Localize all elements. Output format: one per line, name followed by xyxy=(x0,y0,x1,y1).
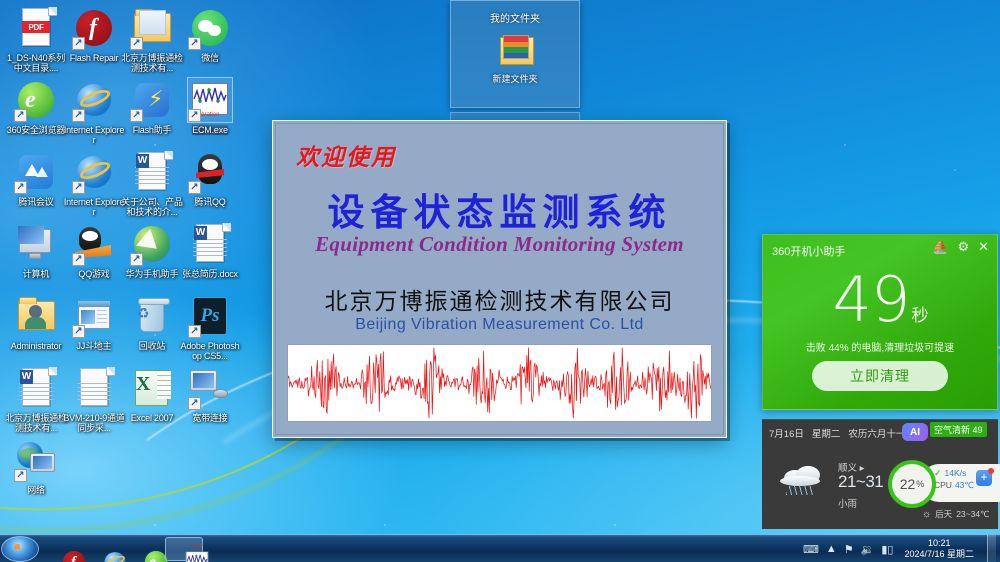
waveform-svg xyxy=(288,345,711,421)
memory-usage-value: 22 xyxy=(900,476,916,492)
percent-sign: % xyxy=(916,479,924,489)
network-icon xyxy=(15,439,57,481)
icon-art-wrapper: W xyxy=(187,221,233,267)
huawei-icon xyxy=(131,223,173,265)
desktop-icon-pdf[interactable]: PDF1_DS-N40系列中文目录.... xyxy=(5,5,67,73)
weekday-text: 星期二 xyxy=(812,426,841,440)
taskbar-button-group: febration xyxy=(39,537,203,561)
window-icon xyxy=(73,295,115,337)
icon-art-wrapper xyxy=(13,293,59,339)
desktop-icon-label: Internet Explorer xyxy=(63,197,125,217)
company-name-cn: 北京万博振通检测技术有限公司 xyxy=(276,282,723,316)
desktop-icon-ie[interactable]: Internet Explorer xyxy=(63,77,125,145)
boot-time-value: 49秒 xyxy=(763,267,997,349)
shortcut-arrow-icon xyxy=(130,253,143,266)
shortcut-arrow-icon xyxy=(14,181,27,194)
sun-icon: ☼ xyxy=(922,509,931,520)
doc-icon xyxy=(73,367,115,409)
desktop-icon-word[interactable]: W北京万博振通检测技术有... xyxy=(5,365,67,433)
browser360-icon: e xyxy=(15,79,57,121)
desktop-icon-label: 计算机 xyxy=(23,269,49,279)
gear-icon[interactable]: ⚙ xyxy=(957,240,969,253)
icon-art-wrapper xyxy=(13,221,59,267)
desktop-icon-label: 回收站 xyxy=(139,341,165,351)
desktop-icon-qqgame[interactable]: QQ游戏 xyxy=(63,221,125,279)
ie-icon xyxy=(73,151,115,193)
cpu-temp-value: 43℃ xyxy=(955,479,974,491)
close-icon[interactable]: ✕ xyxy=(978,240,989,253)
desktop-icon-label: 北京万博振通检测技术有... xyxy=(121,53,183,73)
forecast-day: 后天 xyxy=(935,508,952,520)
shortcut-arrow-icon xyxy=(72,181,85,194)
folder-overlay-item[interactable]: 新建文件夹 xyxy=(451,33,579,85)
shortcut-arrow-icon xyxy=(72,253,85,266)
icon-art-wrapper xyxy=(13,437,59,483)
recyclebin-icon: ♻ xyxy=(131,295,173,337)
desktop-icon-browser360[interactable]: e360安全浏览器 xyxy=(5,77,67,135)
flash-taskbar-button[interactable]: f xyxy=(42,537,80,561)
splash-window[interactable]: 欢迎使用 设备状态监测系统 Equipment Condition Monito… xyxy=(272,120,727,438)
air-quality-label: 空气清新 49 xyxy=(934,423,983,436)
desktop-icon-userfolder[interactable]: Administrator xyxy=(5,293,67,351)
icon-art-wrapper: X xyxy=(129,365,175,411)
photoshop-icon: Ps xyxy=(189,295,231,337)
desktop-icon-label: 腾讯会议 xyxy=(18,197,53,207)
ie-icon xyxy=(73,79,115,121)
desktop-icon-label: JJ斗地主 xyxy=(76,341,111,351)
pdf-icon: PDF xyxy=(15,7,57,49)
icon-art-wrapper xyxy=(71,293,117,339)
widget-icon-bar: ⛵ ⚙ ✕ xyxy=(932,240,989,253)
desktop-icon-computer[interactable]: 计算机 xyxy=(5,221,67,279)
cpu-label: CPU xyxy=(934,479,952,491)
show-desktop-button[interactable] xyxy=(987,535,996,562)
flash-icon: f xyxy=(73,7,115,49)
desktop-icon-label: 华为手机助手 xyxy=(126,269,179,279)
desktop-icon-word[interactable]: W关于公司、产品和技术的介... xyxy=(121,149,183,217)
icon-art-wrapper xyxy=(187,5,233,51)
ie-taskbar-button[interactable] xyxy=(83,537,121,561)
add-widget-button[interactable]: + xyxy=(976,470,992,486)
shirt-icon[interactable]: ⛵ xyxy=(932,240,948,253)
icon-art-wrapper xyxy=(71,221,117,267)
icon-art-wrapper: ⚡ xyxy=(129,77,175,123)
show-hidden-icon[interactable]: ▲ xyxy=(826,543,837,555)
boot-time-number: 49 xyxy=(833,263,910,336)
desktop-icon-huawei[interactable]: 华为手机助手 xyxy=(121,221,183,279)
clock-time: 10:21 xyxy=(904,538,974,549)
date-bar: 7月16日 星期二 农历六月十一 xyxy=(769,426,905,440)
desktop-icon-flash[interactable]: fFlash Repair xyxy=(63,5,125,63)
shortcut-arrow-icon xyxy=(72,325,85,338)
shortcut-arrow-icon xyxy=(72,37,85,50)
icon-art-wrapper: W xyxy=(129,149,175,195)
weather-system-panel[interactable]: 7月16日 星期二 农历六月十一 AI 空气清新 49 顺义 ▸ 21~31 小… xyxy=(762,419,998,529)
desktop-icon-photoshop[interactable]: PsAdobe Photoshop CS5... xyxy=(179,293,241,361)
desktop-icon-flashhelper[interactable]: ⚡Flash助手 xyxy=(121,77,183,135)
desktop-icon-ie[interactable]: Internet Explorer xyxy=(63,149,125,217)
icon-art-wrapper xyxy=(13,149,59,195)
date-text: 7月16日 xyxy=(769,426,804,440)
vibration-waveform-chart xyxy=(287,344,712,422)
desktop-icon-ecm[interactable]: brationECM.exe xyxy=(179,77,241,135)
browser360-taskbar-button[interactable]: e xyxy=(124,537,162,561)
weather-forecast: ☼ 后天 23~34℃ xyxy=(922,508,990,520)
memory-usage-ring[interactable]: 22% xyxy=(888,460,936,508)
shortcut-arrow-icon xyxy=(188,325,201,338)
action-center-icon[interactable]: ⚑ xyxy=(844,543,854,556)
desktop-icon-label: 张总简历.docx xyxy=(182,269,238,279)
ai-badge[interactable]: AI xyxy=(902,423,928,441)
shortcut-arrow-icon xyxy=(14,109,27,122)
icon-art-wrapper: PDF xyxy=(13,5,59,51)
rain-cloud-icon xyxy=(780,464,826,494)
desktop-icon-label: Excel 2007 xyxy=(131,413,174,423)
widget-description: 击败 44% 的电脑,清理垃圾可提速 xyxy=(763,339,997,354)
wechat-icon xyxy=(189,7,231,49)
broadband-icon xyxy=(189,367,231,409)
icon-art-wrapper xyxy=(129,221,175,267)
icon-art-wrapper xyxy=(187,149,233,195)
desktop-icon-label: 腾讯QQ xyxy=(194,197,225,207)
welcome-text: 欢迎使用 xyxy=(296,138,396,172)
network-icon[interactable]: ▮▯ xyxy=(881,543,893,556)
air-quality-badge[interactable]: 空气清新 49 xyxy=(930,422,987,437)
desktop-icon-label: QQ游戏 xyxy=(78,269,109,279)
volume-icon[interactable]: 🔉 xyxy=(861,543,875,556)
desktop-icon-meeting[interactable]: 腾讯会议 xyxy=(5,149,67,207)
desktop-icon-label: Adobe Photoshop CS5... xyxy=(179,341,241,361)
desktop-icon-wechat[interactable]: 微信 xyxy=(179,5,241,63)
desktop-icon-label: 1_DS-N40系列中文目录.... xyxy=(5,53,67,73)
icon-art-wrapper: Ps xyxy=(187,293,233,339)
weather-condition: 小雨 xyxy=(838,496,857,510)
clean-now-button[interactable]: 立即清理 xyxy=(812,361,948,391)
desktop-icon-excel[interactable]: XExcel 2007 xyxy=(121,365,183,423)
desktop-icon-label: 网络 xyxy=(27,485,45,495)
icon-art-wrapper xyxy=(187,365,233,411)
desktop-icon-broadband[interactable]: 宽带连接 xyxy=(179,365,241,423)
shortcut-arrow-icon xyxy=(130,37,143,50)
desktop-icon-label: Internet Explorer xyxy=(63,125,125,145)
shortcut-arrow-icon xyxy=(188,37,201,50)
desktop-icon-label: 微信 xyxy=(201,53,219,63)
boot-assistant-widget[interactable]: 360开机小助手 ⛵ ⚙ ✕ 49秒 击败 44% 的电脑,清理垃圾可提速 立即… xyxy=(762,234,998,410)
lunar-date-text: 农历六月十一 xyxy=(848,426,905,440)
icon-art-wrapper: e xyxy=(13,77,59,123)
desktop-icon-doc[interactable]: BVM-210-9通道同步采... xyxy=(63,365,125,433)
shortcut-arrow-icon xyxy=(188,397,201,410)
desktop-icon-label: ECM.exe xyxy=(192,125,228,135)
widget-title: 360开机小助手 xyxy=(772,243,845,259)
ecm-taskbar-button[interactable]: bration xyxy=(165,537,203,561)
word-icon: W xyxy=(15,367,57,409)
desktop-icon-label: Flash助手 xyxy=(133,125,172,135)
system-tray: ⌨ ▲ ⚑ 🔉 ▮▯ 10:21 2024/7/16 星期二 xyxy=(803,535,1000,562)
desktop-icon-label: 宽带连接 xyxy=(192,413,227,423)
shortcut-arrow-icon xyxy=(72,109,85,122)
desktop-icon-label: 北京万博振通检测技术有... xyxy=(5,413,67,433)
boot-time-unit: 秒 xyxy=(911,306,927,326)
qqgame-icon xyxy=(73,223,115,265)
userfolder-icon xyxy=(15,295,57,337)
word-icon: W xyxy=(189,223,231,265)
company-name-en: Beijing Vibration Measurement Co. Ltd xyxy=(276,316,723,334)
desktop-icon-recyclebin[interactable]: ♻回收站 xyxy=(121,293,183,351)
icon-art-wrapper xyxy=(71,365,117,411)
icon-art-wrapper: W xyxy=(13,365,59,411)
folder-overlay-item-label: 新建文件夹 xyxy=(492,72,537,85)
icon-art-wrapper xyxy=(129,5,175,51)
shortcut-arrow-icon xyxy=(130,109,143,122)
shortcut-arrow-icon xyxy=(188,109,201,122)
word-icon: W xyxy=(131,151,173,193)
icon-art-wrapper: ♻ xyxy=(129,293,175,339)
desktop-icon-window[interactable]: JJ斗地主 xyxy=(63,293,125,351)
icon-art-wrapper xyxy=(71,77,117,123)
desktop-icon-word[interactable]: W张总简历.docx xyxy=(179,221,241,279)
network-speed-value: 14K/s xyxy=(945,467,967,479)
folder-icon xyxy=(131,7,173,49)
shortcut-arrow-icon xyxy=(14,469,27,482)
icon-art-wrapper: bration xyxy=(187,77,233,123)
ecm-icon: bration xyxy=(189,79,231,121)
forecast-temp: 23~34℃ xyxy=(956,509,989,520)
computer-icon xyxy=(15,223,57,265)
folder-overlay-title: 我的文件夹 xyxy=(451,10,579,25)
desktop-icon-folder[interactable]: 北京万博振通检测技术有... xyxy=(121,5,183,73)
icon-art-wrapper: f xyxy=(71,5,117,51)
qq-icon xyxy=(189,151,231,193)
desktop-icon-label: 关于公司、产品和技术的介... xyxy=(121,197,183,217)
taskbar-clock[interactable]: 10:21 2024/7/16 星期二 xyxy=(900,538,978,560)
desktop-icon-label: Flash Repair xyxy=(70,53,119,63)
flashhelper-icon: ⚡ xyxy=(131,79,173,121)
clock-date: 2024/7/16 星期二 xyxy=(904,549,974,560)
meeting-icon xyxy=(15,151,57,193)
start-button[interactable] xyxy=(1,536,39,562)
desktop-icon-grid: PDF1_DS-N40系列中文目录....fFlash Repair北京万博振通… xyxy=(0,0,260,534)
color-folder-icon xyxy=(494,33,536,69)
app-title-en: Equipment Condition Monitoring System xyxy=(276,232,723,257)
weather-temp-range: 21~31 xyxy=(838,472,883,492)
folder-overlay-panel[interactable]: 我的文件夹 新建文件夹 xyxy=(450,0,580,108)
desktop-icon-label: Administrator xyxy=(11,341,61,351)
app-title-cn: 设备状态监测系统 xyxy=(276,182,723,236)
desktop-icon-label: 360安全浏览器 xyxy=(7,125,65,135)
shortcut-arrow-icon xyxy=(188,181,201,194)
excel-icon: X xyxy=(131,367,173,409)
taskbar[interactable]: febration ⌨ ▲ ⚑ 🔉 ▮▯ 10:21 2024/7/16 星期二 xyxy=(0,534,1000,562)
desktop-icon-label: BVM-210-9通道同步采... xyxy=(63,413,125,433)
keyboard-icon[interactable]: ⌨ xyxy=(803,543,819,556)
icon-art-wrapper xyxy=(71,149,117,195)
desktop-icon-network[interactable]: 网络 xyxy=(5,437,67,495)
desktop-icon-qq[interactable]: 腾讯QQ xyxy=(179,149,241,207)
